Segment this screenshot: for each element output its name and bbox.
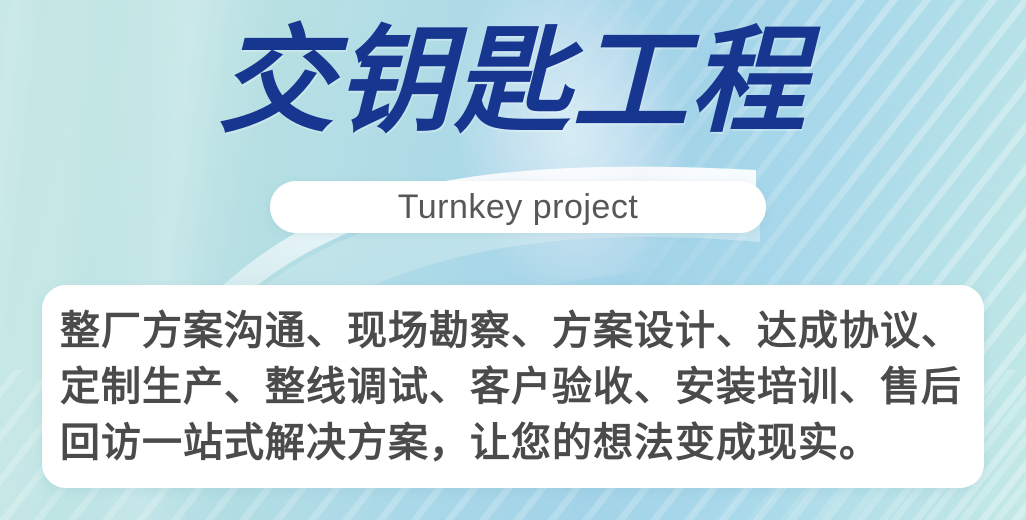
description-card: 整厂方案沟通、现场勘察、方案设计、达成协议、 定制生产、整线调试、客户验收、安装… [42, 285, 984, 488]
subtitle-text: Turnkey project [398, 190, 639, 224]
banner-root: 交钥匙工程 Turnkey project 整厂方案沟通、现场勘察、方案设计、达… [0, 0, 1026, 520]
description-line: 回访一站式解决方案，让您的想法变成现实。 [56, 415, 970, 471]
description-line: 定制生产、整线调试、客户验收、安装培训、售后 [56, 359, 970, 415]
subtitle-pill: Turnkey project [270, 181, 766, 233]
description-line: 整厂方案沟通、现场勘察、方案设计、达成协议、 [56, 303, 970, 359]
description-text-block: 整厂方案沟通、现场勘察、方案设计、达成协议、 定制生产、整线调试、客户验收、安装… [56, 303, 970, 471]
page-title: 交钥匙工程 [0, 16, 1026, 146]
